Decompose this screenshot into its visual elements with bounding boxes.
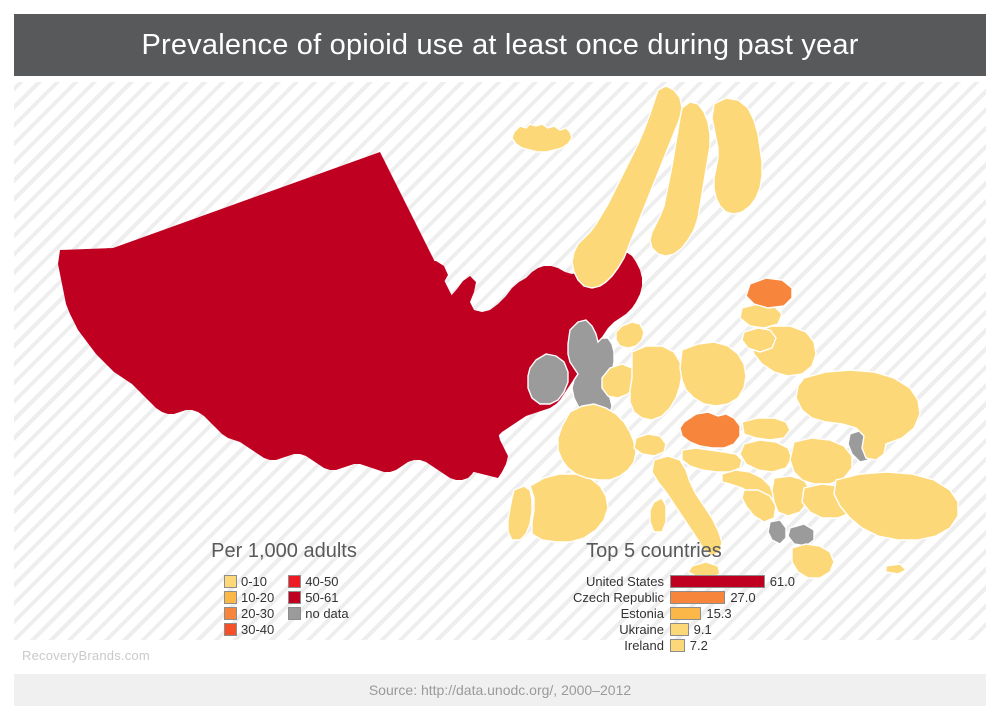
map-region-sicily[interactable]: [688, 562, 720, 578]
map-region-greece[interactable]: [792, 544, 834, 578]
bar-row[interactable]: Ireland7.2: [554, 638, 884, 653]
bar-value-label: 7.2: [685, 639, 708, 652]
map-region-poland[interactable]: [680, 342, 746, 406]
watermark: RecoveryBrands.com: [22, 648, 150, 663]
page-title: Prevalence of opioid use at least once d…: [141, 29, 858, 62]
bar-inner: 7.2: [670, 639, 795, 652]
map-region-france[interactable]: [558, 404, 636, 480]
header-bar: Prevalence of opioid use at least once d…: [14, 14, 986, 76]
map-region-austria[interactable]: [682, 448, 742, 472]
map-region-albania[interactable]: [768, 520, 786, 544]
map-region-lithuania[interactable]: [742, 328, 776, 352]
map-region-hungary[interactable]: [740, 440, 792, 472]
map-region-spain[interactable]: [530, 474, 608, 542]
footer-bar: Source: http://data.unodc.org/, 2000–201…: [14, 674, 986, 706]
map-region-denmark[interactable]: [616, 322, 644, 348]
map-region-estonia[interactable]: [746, 278, 792, 308]
map-region-sardinia[interactable]: [650, 498, 666, 532]
map-region-macedonia[interactable]: [788, 524, 814, 546]
bar-fill: [670, 639, 685, 652]
map-region-finland[interactable]: [712, 98, 762, 214]
bar-category-label: Ireland: [554, 639, 670, 652]
choropleth-map: [14, 82, 986, 640]
source-text: Source: http://data.unodc.org/, 2000–201…: [369, 682, 631, 698]
map-region-portugal[interactable]: [508, 486, 532, 540]
map-region-cyprus[interactable]: [886, 564, 906, 574]
map-region-iceland[interactable]: [512, 124, 572, 152]
map-region-germany[interactable]: [630, 346, 682, 420]
map-region-turkey[interactable]: [834, 472, 958, 540]
map-region-romania[interactable]: [790, 438, 852, 484]
map-region-czech-republic[interactable]: [680, 412, 740, 448]
map-region-slovakia[interactable]: [742, 418, 790, 440]
infographic-root: Prevalence of opioid use at least once d…: [0, 0, 1000, 719]
map-region-switzerland[interactable]: [634, 434, 666, 456]
map-canvas: [14, 82, 986, 640]
